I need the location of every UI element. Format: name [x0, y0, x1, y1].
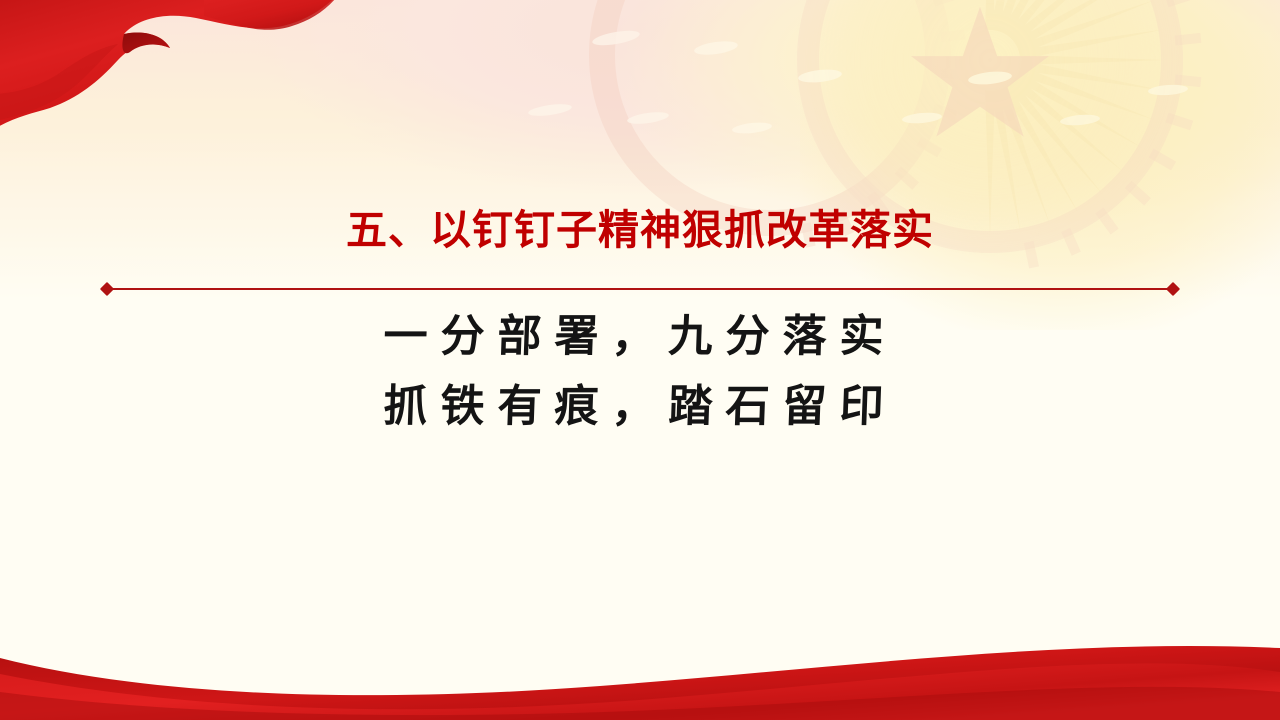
body-line-2: 抓铁有痕，踏石留印 [0, 372, 1280, 442]
slide-title: 五、以钉钉子精神狠抓改革落实 [0, 206, 1280, 255]
slide-content: 五、以钉钉子精神狠抓改革落实 一分部署，九分落实 抓铁有痕，踏石留印 [0, 0, 1280, 720]
body-line-1: 一分部署，九分落实 [0, 302, 1280, 372]
divider-diamond-right-icon [1166, 282, 1180, 296]
divider-rule [108, 288, 1172, 290]
presentation-slide: 五、以钉钉子精神狠抓改革落实 一分部署，九分落实 抓铁有痕，踏石留印 [0, 0, 1280, 720]
title-divider [100, 284, 1180, 294]
slide-body: 一分部署，九分落实 抓铁有痕，踏石留印 [0, 302, 1280, 442]
